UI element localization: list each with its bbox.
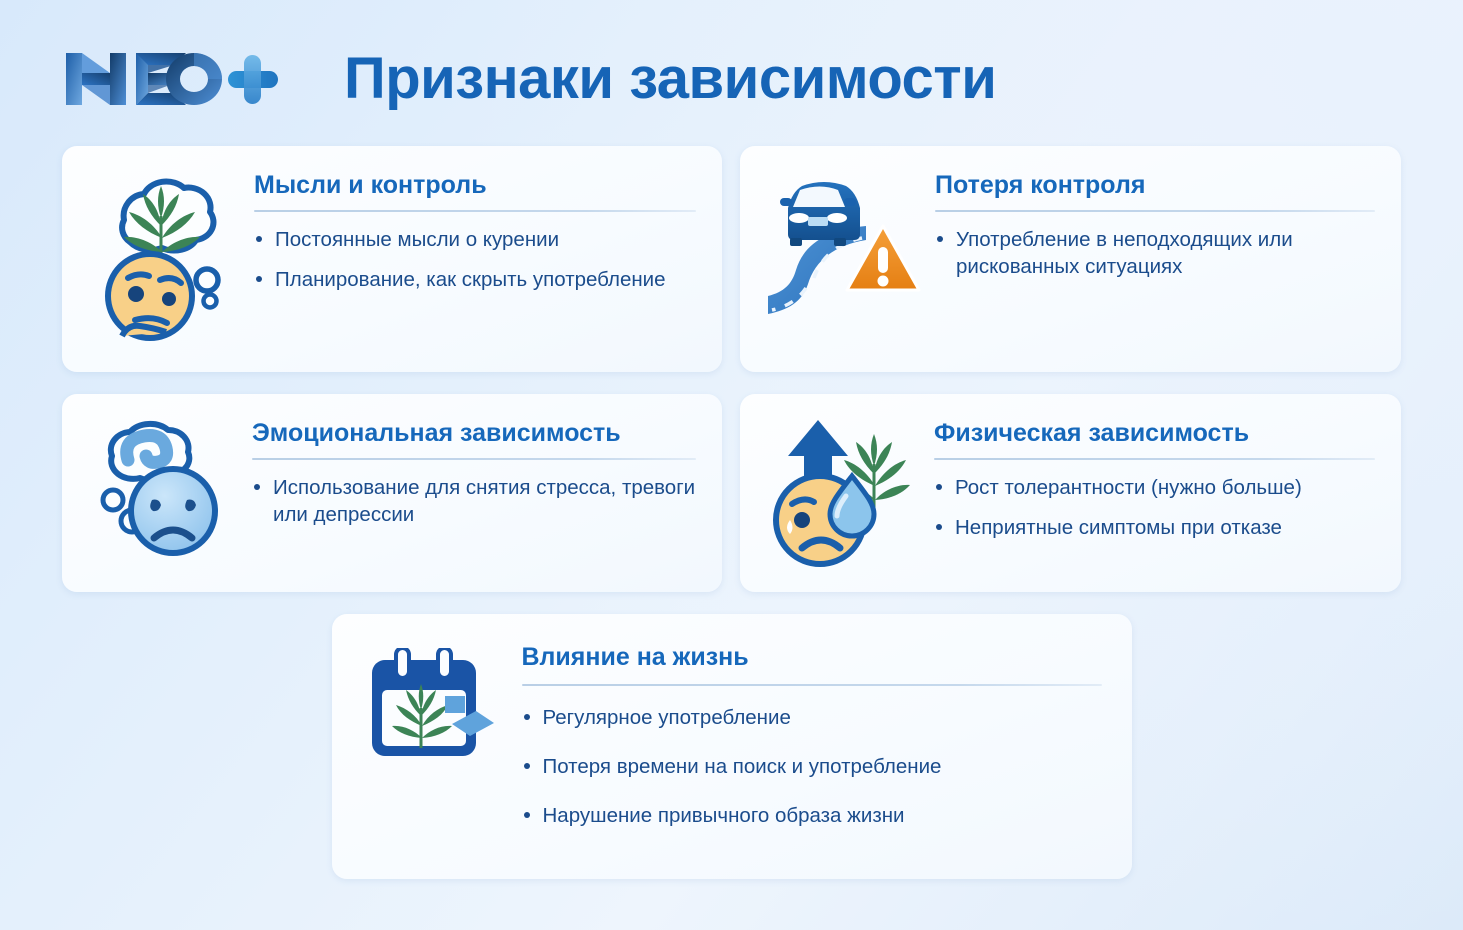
card-heading: Эмоциональная зависимость bbox=[252, 420, 696, 448]
heading-divider bbox=[934, 458, 1375, 460]
bullet-list: Использование для снятия стресса, тревог… bbox=[252, 474, 696, 528]
calendar-with-cannabis-leaf-icon bbox=[366, 648, 498, 766]
sad-blue-face-with-thought-cloud-icon bbox=[88, 416, 238, 566]
list-item: Потеря времени на поиск и употребление bbox=[522, 753, 1102, 780]
cards-row-3: Влияние на жизнь Регулярное употребление… bbox=[62, 614, 1401, 879]
sweating-face-with-up-arrow-and-cannabis-icon bbox=[766, 416, 924, 568]
card-body: Мысли и контроль Постоянные мысли о куре… bbox=[254, 168, 696, 293]
list-item: Постоянные мысли о курении bbox=[254, 226, 696, 253]
card-emotional-dependence[interactable]: Эмоциональная зависимость Использование … bbox=[62, 394, 722, 592]
heading-divider bbox=[254, 210, 696, 212]
page-header: Признаки зависимости bbox=[62, 36, 1401, 122]
page-title: Признаки зависимости bbox=[344, 50, 996, 108]
list-item: Употребление в неподходящих или рискован… bbox=[935, 226, 1375, 280]
card-body: Влияние на жизнь Регулярное употребление… bbox=[522, 640, 1102, 851]
bullet-list: Постоянные мысли о курении Планирование,… bbox=[254, 226, 696, 293]
card-heading: Потеря контроля bbox=[935, 172, 1375, 200]
card-physical-dependence[interactable]: Физическая зависимость Рост толерантност… bbox=[740, 394, 1401, 592]
list-item: Рост толерантности (нужно больше) bbox=[934, 474, 1375, 501]
card-body: Потеря контроля Употребление в неподходя… bbox=[935, 168, 1375, 280]
bullet-list: Регулярное употребление Потеря времени н… bbox=[522, 704, 1102, 829]
cards-grid: Мысли и контроль Постоянные мысли о куре… bbox=[62, 146, 1401, 901]
list-item: Использование для снятия стресса, тревог… bbox=[252, 474, 696, 528]
heading-divider bbox=[522, 684, 1102, 686]
bullet-list: Рост толерантности (нужно больше) Неприя… bbox=[934, 474, 1375, 541]
list-item: Неприятные симптомы при отказе bbox=[934, 514, 1375, 541]
thinking-face-with-cannabis-thought-bubble-icon bbox=[88, 168, 238, 348]
heading-divider bbox=[252, 458, 696, 460]
bullet-list: Употребление в неподходящих или рискован… bbox=[935, 226, 1375, 280]
heading-divider bbox=[935, 210, 1375, 212]
card-loss-of-control[interactable]: Потеря контроля Употребление в неподходя… bbox=[740, 146, 1401, 372]
card-body: Эмоциональная зависимость Использование … bbox=[252, 416, 696, 528]
car-on-road-with-warning-triangle-icon bbox=[766, 168, 921, 323]
list-item: Регулярное употребление bbox=[522, 704, 1102, 731]
card-body: Физическая зависимость Рост толерантност… bbox=[934, 416, 1375, 541]
cards-row-1: Мысли и контроль Постоянные мысли о куре… bbox=[62, 146, 1401, 372]
card-thoughts-and-control[interactable]: Мысли и контроль Постоянные мысли о куре… bbox=[62, 146, 722, 372]
card-impact-on-life[interactable]: Влияние на жизнь Регулярное употребление… bbox=[332, 614, 1132, 879]
neo-plus-logo bbox=[62, 46, 282, 112]
card-heading: Физическая зависимость bbox=[934, 420, 1375, 448]
list-item: Планирование, как скрыть употребление bbox=[254, 266, 696, 293]
card-heading: Влияние на жизнь bbox=[522, 644, 1102, 672]
list-item: Нарушение привычного образа жизни bbox=[522, 802, 1102, 829]
cards-row-2: Эмоциональная зависимость Использование … bbox=[62, 394, 1401, 592]
card-heading: Мысли и контроль bbox=[254, 172, 696, 200]
